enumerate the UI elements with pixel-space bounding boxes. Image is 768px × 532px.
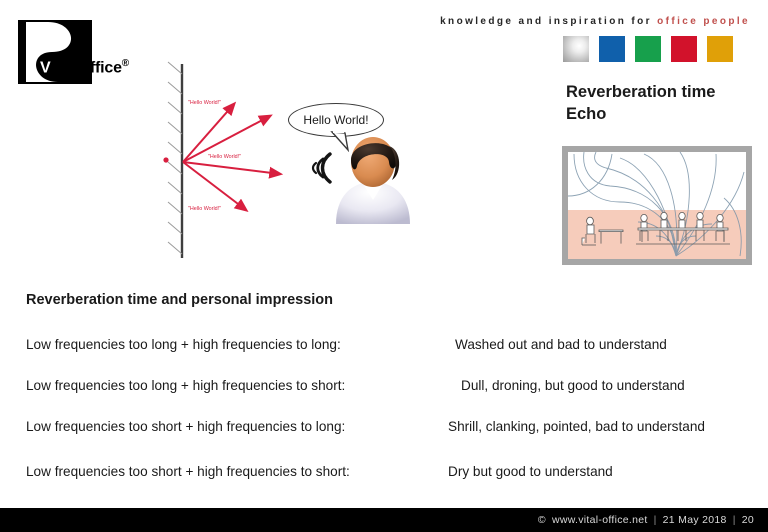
condition-text-4: Low frequencies too short + high frequen… (26, 464, 350, 479)
wall-hatching (168, 62, 182, 258)
logo-registered-mark: ® (122, 58, 129, 69)
footer-bar: © www.vital-office.net | 21 May 2018 | 2… (0, 508, 768, 532)
section-title-line2: Echo (566, 104, 766, 126)
swatch-green (635, 36, 661, 62)
swatch-amber (707, 36, 733, 62)
tagline-accent: office people (657, 16, 750, 27)
reflection-label-2: "Hello World!" (208, 154, 241, 160)
footer-website[interactable]: www.vital-office.net (552, 514, 648, 526)
brand-swatch-row (563, 36, 733, 62)
impression-row-1: Low frequencies too long + high frequenc… (0, 337, 768, 357)
footer-date: 21 May 2018 (663, 514, 727, 526)
impression-text-4: Dry but good to understand (448, 464, 613, 479)
reflection-label-3: "Hello World!" (188, 206, 221, 212)
copyright-symbol: © (538, 514, 546, 526)
logo-wordmark-white: V (40, 59, 50, 76)
tagline-main: knowledge and inspiration for (440, 16, 652, 27)
room-acoustics-svg (568, 152, 746, 259)
footer-page-number: 20 (742, 514, 754, 526)
condition-text-3: Low frequencies too short + high frequen… (26, 419, 345, 434)
condition-text-1: Low frequencies too long + high frequenc… (26, 337, 341, 352)
impression-text-1: Washed out and bad to understand (455, 337, 667, 352)
section-title-line1: Reverberation time (566, 82, 766, 104)
section-title: Reverberation time Echo (566, 82, 766, 126)
impression-row-2: Low frequencies too long + high frequenc… (0, 378, 768, 398)
impression-row-3: Low frequencies too short + high frequen… (0, 419, 768, 439)
impression-text-2: Dull, droning, but good to understand (461, 378, 685, 393)
slide-canvas: Vital-Office® knowledge and inspiration … (0, 0, 768, 532)
swatch-red (671, 36, 697, 62)
footer-meta: © www.vital-office.net | 21 May 2018 | 2… (538, 508, 754, 532)
avatar-icon (330, 130, 416, 226)
footer-separator-2: | (733, 514, 736, 526)
logo-wordmark: Vital-Office® (40, 58, 129, 77)
impression-row-4: Low frequencies too short + high frequen… (0, 464, 768, 484)
impression-heading: Reverberation time and personal impressi… (26, 292, 333, 308)
speaker-avatar (330, 130, 416, 226)
condition-text-2: Low frequencies too long + high frequenc… (26, 378, 345, 393)
sound-source-point (163, 157, 168, 162)
logo-wordmark-black: ital-Office (50, 59, 122, 76)
reflection-label-1: "Hello World!" (188, 100, 221, 106)
impression-text-3: Shrill, clanking, pointed, bad to unders… (448, 419, 705, 434)
footer-separator-1: | (654, 514, 657, 526)
brand-logo: Vital-Office® (18, 20, 128, 84)
swatch-blue (599, 36, 625, 62)
brand-tagline: knowledge and inspiration for office peo… (398, 16, 750, 27)
room-acoustics-figure (562, 146, 752, 265)
swatch-silver (563, 36, 589, 62)
